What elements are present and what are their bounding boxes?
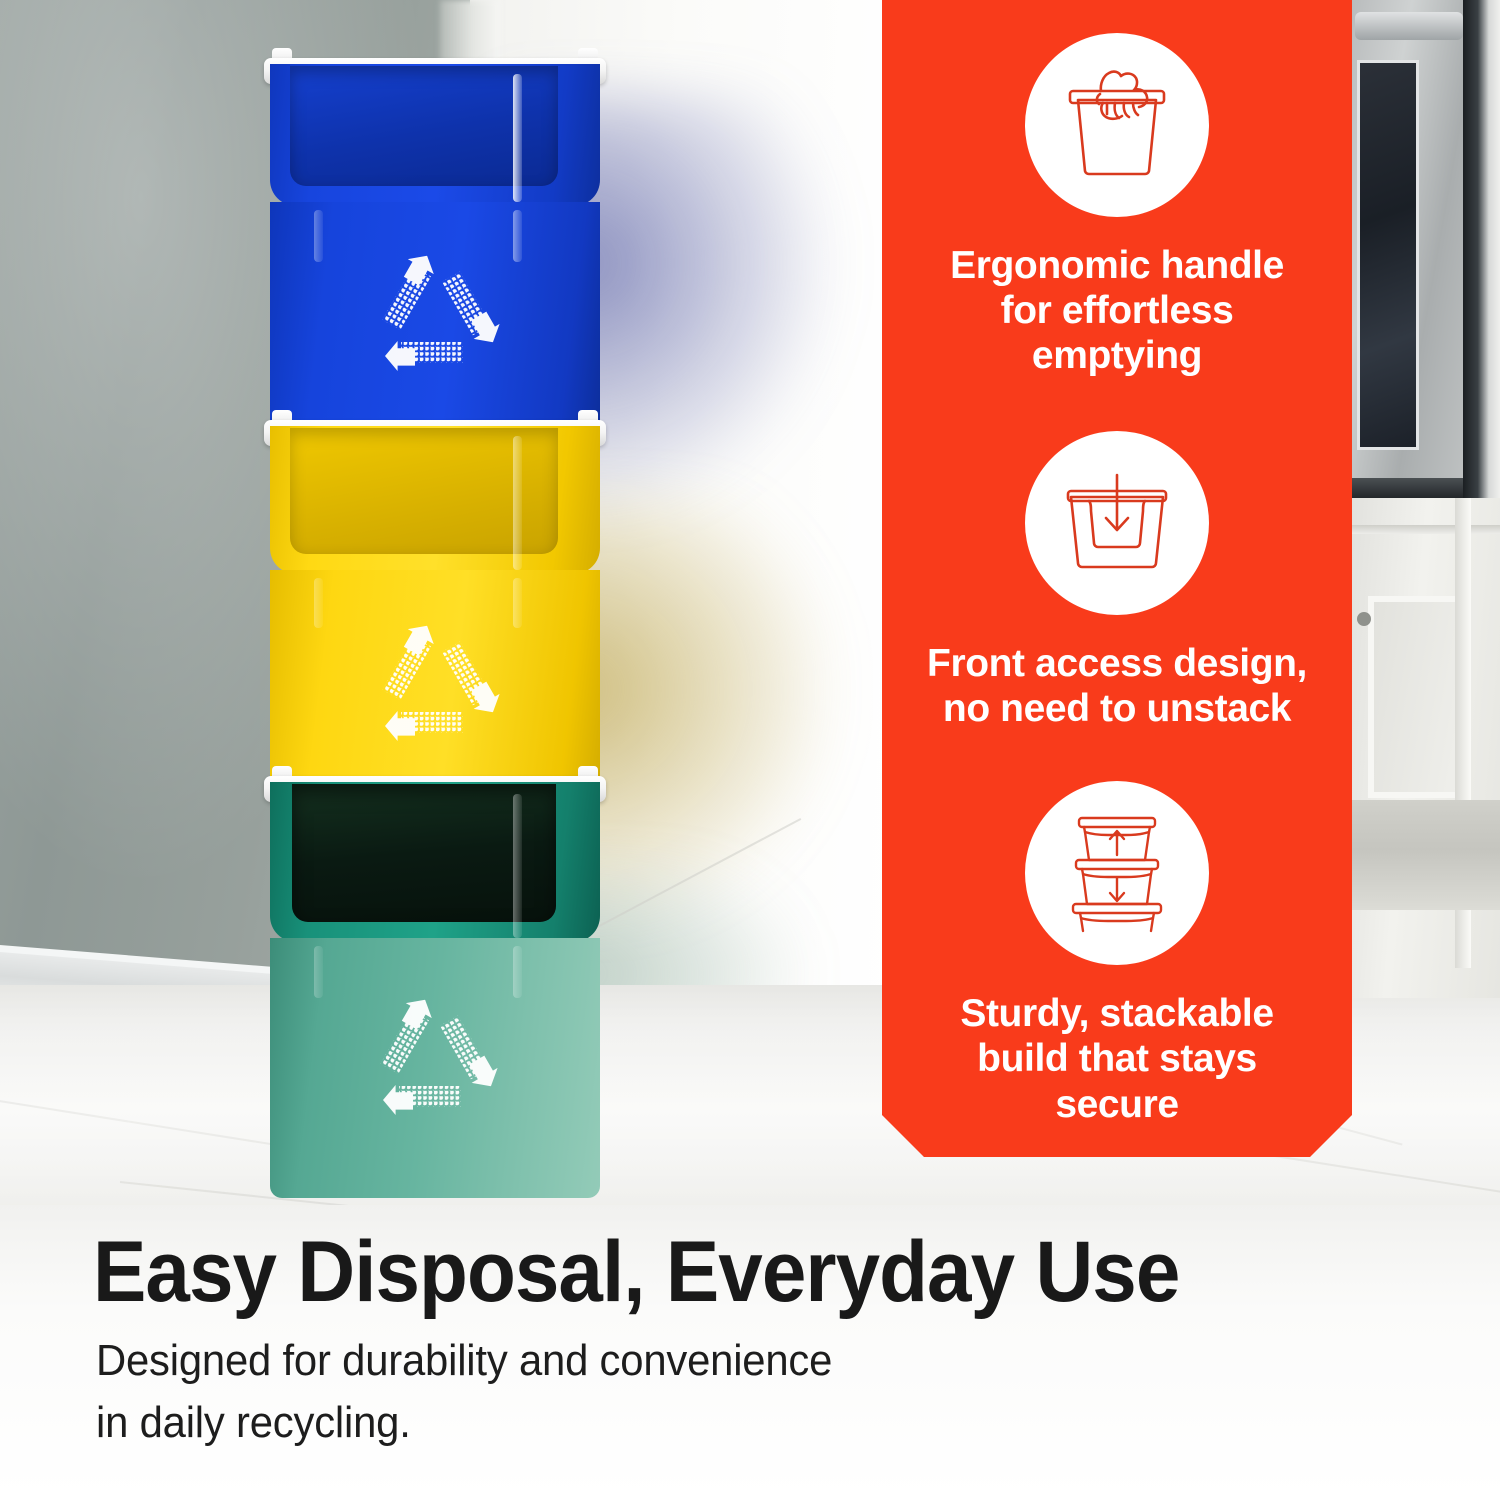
headline: Easy Disposal, Everyday Use — [93, 1223, 1179, 1322]
feature-label-stackable: Sturdy, stackable build that stays secur… — [907, 991, 1327, 1127]
bin-front-access-arrow-icon — [1025, 431, 1209, 615]
cabinet-toe-kick — [1352, 800, 1500, 910]
subheadline: Designed for durability and convenience … — [96, 1330, 832, 1455]
stacked-bins — [270, 50, 620, 1190]
bin-yellow — [270, 412, 600, 812]
feature-label-ergonomic-handle: Ergonomic handle for effortless emptying — [907, 243, 1327, 379]
footer-copy: Easy Disposal, Everyday Use Designed for… — [0, 1205, 1500, 1500]
cabinet-knob — [1357, 612, 1371, 626]
feature-item-ergonomic-handle: Ergonomic handle for effortless emptying — [882, 33, 1352, 379]
recycle-symbol-blue — [360, 250, 510, 386]
product-marketing-image: Ergonomic handle for effortless emptying — [0, 0, 1500, 1500]
cabinet-door-panel — [1368, 596, 1464, 798]
bin-blue — [270, 50, 600, 450]
feature-item-front-access: Front access design, no need to unstack — [882, 431, 1352, 731]
hand-lifting-bin-icon — [1025, 33, 1209, 217]
bin-green — [270, 768, 600, 1198]
recycle-symbol-green — [358, 994, 508, 1130]
feature-label-front-access: Front access design, no need to unstack — [907, 641, 1327, 731]
oven-window — [1357, 60, 1419, 450]
oven-side-panel — [1463, 0, 1500, 560]
oven-bottom-gap — [1352, 478, 1472, 498]
feature-item-stackable: Sturdy, stackable build that stays secur… — [882, 781, 1352, 1127]
feature-panel: Ergonomic handle for effortless emptying — [882, 0, 1352, 1157]
oven-handle — [1355, 12, 1463, 40]
stacked-bins-arrows-icon — [1025, 781, 1209, 965]
cabinet-drawer-rail — [1352, 525, 1500, 534]
recycle-symbol-yellow — [360, 620, 510, 756]
